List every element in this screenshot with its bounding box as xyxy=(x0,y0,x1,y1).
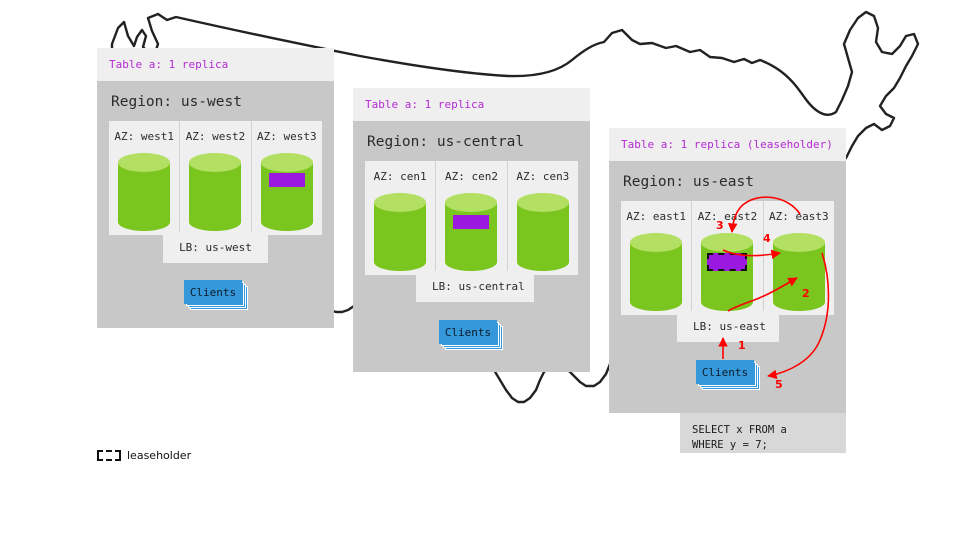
arrow-label-2: 2 xyxy=(802,287,810,300)
cylinder-top xyxy=(630,233,682,252)
az-cell-east2[interactable]: AZ: east2 xyxy=(692,201,763,315)
region-title-us-west: Region: us-west xyxy=(97,81,334,121)
panel-header-us-central: Table a: 1 replica xyxy=(353,88,590,121)
az-label-cen1: AZ: cen1 xyxy=(374,170,427,183)
region-title-us-east: Region: us-east xyxy=(609,161,846,201)
az-label-east2: AZ: east2 xyxy=(698,210,758,223)
node-cylinder-west3[interactable] xyxy=(261,153,313,223)
cylinder-top xyxy=(374,193,426,212)
region-panel-us-east: Table a: 1 replica (leaseholder) Region:… xyxy=(609,128,846,413)
az-cell-west3[interactable]: AZ: west3 xyxy=(252,121,322,235)
az-label-east3: AZ: east3 xyxy=(769,210,829,223)
az-cell-east1[interactable]: AZ: east1 xyxy=(621,201,692,315)
region-panel-us-central: Table a: 1 replica Region: us-central AZ… xyxy=(353,88,590,372)
node-cylinder-cen3[interactable] xyxy=(517,193,569,263)
sql-query-box: SELECT x FROM a WHERE y = 7; xyxy=(680,413,846,453)
arrow-label-3: 3 xyxy=(716,219,724,232)
az-label-west3: AZ: west3 xyxy=(257,130,317,143)
region-title-us-central: Region: us-central xyxy=(353,121,590,161)
arrow-label-1: 1 xyxy=(738,339,746,352)
clients-stack-us-east[interactable]: Clients xyxy=(696,360,758,386)
arrow-label-4: 4 xyxy=(763,232,771,245)
cylinder-top xyxy=(773,233,825,252)
clients-label: Clients xyxy=(696,360,754,384)
node-cylinder-west1[interactable] xyxy=(118,153,170,223)
node-cylinder-cen1[interactable] xyxy=(374,193,426,263)
clients-stack-us-west[interactable]: Clients xyxy=(184,280,246,306)
panel-header-us-west: Table a: 1 replica xyxy=(97,48,334,81)
arrow-label-5: 5 xyxy=(775,378,783,391)
az-label-cen3: AZ: cen3 xyxy=(516,170,569,183)
az-cell-east3[interactable]: AZ: east3 xyxy=(764,201,834,315)
node-cylinder-cen2[interactable] xyxy=(445,193,497,263)
az-label-east1: AZ: east1 xyxy=(626,210,686,223)
dashed-rect-swatch xyxy=(97,450,121,461)
node-cylinder-east1[interactable] xyxy=(630,233,682,303)
node-cylinder-east3[interactable] xyxy=(773,233,825,303)
az-strip-us-west: AZ: west1 AZ: west2 AZ: west3 xyxy=(109,121,322,235)
replica-range-west3 xyxy=(269,173,305,187)
legend-leaseholder: leaseholder xyxy=(97,449,191,462)
clients-stack-us-central[interactable]: Clients xyxy=(439,320,501,346)
lb-box-us-east[interactable]: LB: us-east xyxy=(677,311,779,342)
cylinder-top xyxy=(517,193,569,212)
az-cell-west2[interactable]: AZ: west2 xyxy=(180,121,251,235)
node-cylinder-east2[interactable] xyxy=(701,233,753,303)
lb-box-us-central[interactable]: LB: us-central xyxy=(416,271,534,302)
clients-label: Clients xyxy=(439,320,497,344)
clients-label: Clients xyxy=(184,280,242,304)
cylinder-top xyxy=(118,153,170,172)
az-cell-cen1[interactable]: AZ: cen1 xyxy=(365,161,436,275)
region-panel-us-west: Table a: 1 replica Region: us-west AZ: w… xyxy=(97,48,334,328)
az-cell-cen2[interactable]: AZ: cen2 xyxy=(436,161,507,275)
az-strip-us-central: AZ: cen1 AZ: cen2 AZ: cen3 xyxy=(365,161,578,275)
node-cylinder-west2[interactable] xyxy=(189,153,241,223)
panel-header-us-east: Table a: 1 replica (leaseholder) xyxy=(609,128,846,161)
cylinder-top xyxy=(261,153,313,172)
lb-box-us-west[interactable]: LB: us-west xyxy=(163,232,268,263)
leaseholder-range-east2 xyxy=(707,253,747,271)
az-cell-cen3[interactable]: AZ: cen3 xyxy=(508,161,578,275)
az-cell-west1[interactable]: AZ: west1 xyxy=(109,121,180,235)
az-label-west2: AZ: west2 xyxy=(186,130,246,143)
az-label-west1: AZ: west1 xyxy=(114,130,174,143)
legend-label: leaseholder xyxy=(127,449,191,462)
replica-range-cen2 xyxy=(453,215,489,229)
az-label-cen2: AZ: cen2 xyxy=(445,170,498,183)
